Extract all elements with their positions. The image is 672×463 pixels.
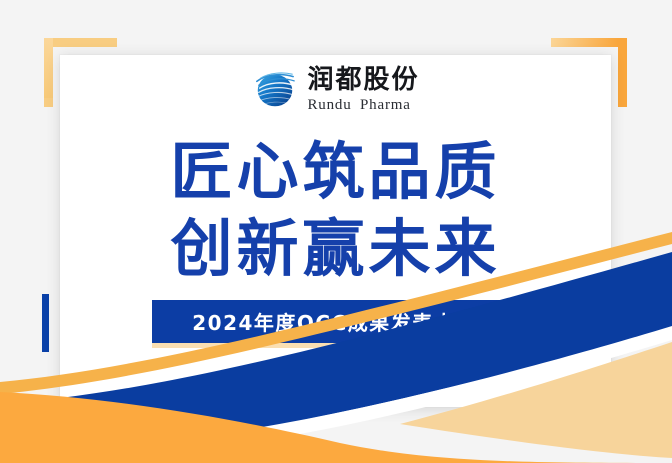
company-name-cn: 润都股份 — [307, 67, 419, 94]
poster-card-inner: 润都股份 Rundu Pharma 匠心筑品质 创新赢未来 2024年度QCC成… — [60, 55, 611, 407]
blue-vertical-tab — [42, 294, 49, 352]
subtitle-banner: 2024年度QCC成果发表大赛 — [152, 300, 517, 343]
headline-line-2: 创新赢未来 — [60, 218, 611, 280]
brand-logo: 润都股份 Rundu Pharma — [60, 67, 611, 113]
rundu-globe-logo-icon — [251, 67, 299, 113]
poster-card: 润都股份 Rundu Pharma 匠心筑品质 创新赢未来 2024年度QCC成… — [60, 55, 611, 407]
poster-canvas: 润都股份 Rundu Pharma 匠心筑品质 创新赢未来 2024年度QCC成… — [0, 0, 672, 463]
subtitle-text: 2024年度QCC成果发表大赛 — [192, 307, 477, 336]
subtitle-underline — [152, 343, 517, 348]
company-name-en: Rundu Pharma — [307, 98, 410, 113]
brand-logo-text: 润都股份 Rundu Pharma — [307, 67, 419, 112]
headline-line-1: 匠心筑品质 — [60, 141, 611, 203]
